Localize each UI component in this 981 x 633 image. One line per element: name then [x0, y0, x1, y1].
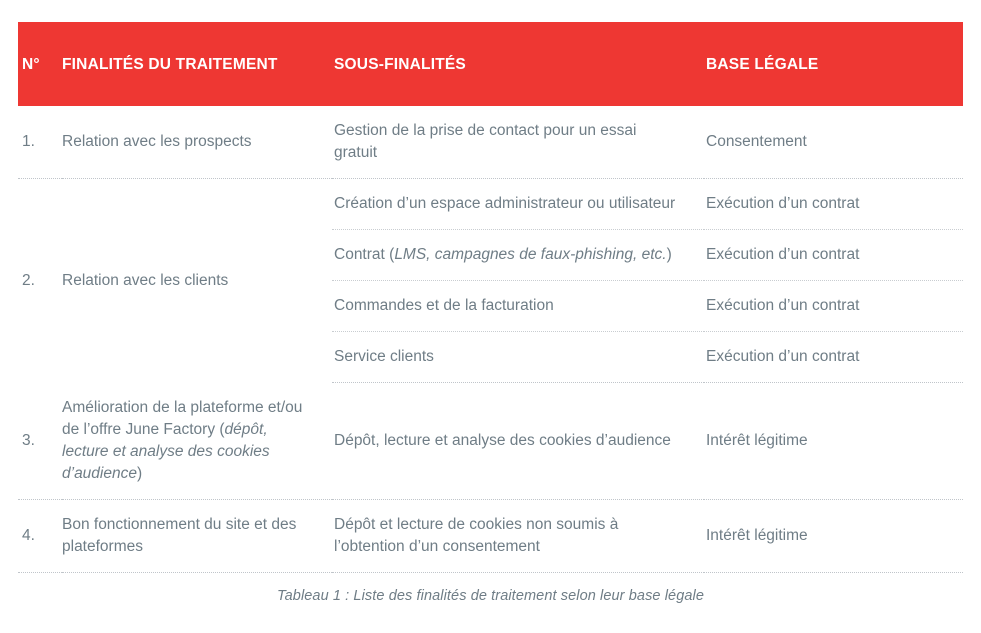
cell-number: 2. [18, 179, 62, 383]
table-body: 1. Relation avec les prospects Gestion d… [18, 106, 963, 572]
cell-sous-finalite-text: Service clients [334, 348, 434, 365]
cell-sous-finalite-text: Dépôt, lecture et analyse des cookies d’… [334, 432, 671, 449]
table-header-row: N° FINALITÉS DU TRAITEMENT SOUS-FINALITÉ… [18, 22, 963, 106]
cell-sous-finalite-text: Gestion de la prise de contact pour un e… [334, 122, 636, 161]
cell-sous-finalite: Dépôt et lecture de cookies non soumis à… [332, 499, 704, 572]
cell-sous-finalite: Service clients [332, 332, 704, 383]
cell-finalite: Relation avec les clients [62, 179, 332, 383]
cell-number: 4. [18, 499, 62, 572]
cell-base-legale: Intérêt légitime [704, 499, 963, 572]
column-header-base-legale-label: BASE LÉGALE [706, 54, 963, 74]
cell-sous-finalite-tail: ) [667, 246, 672, 263]
cell-sous-finalite: Contrat (LMS, campagnes de faux-phishing… [332, 230, 704, 281]
finalites-table: N° FINALITÉS DU TRAITEMENT SOUS-FINALITÉ… [18, 22, 963, 573]
cell-base-legale: Exécution d’un contrat [704, 230, 963, 281]
table-row: 1. Relation avec les prospects Gestion d… [18, 106, 963, 179]
column-header-sous-finalites: SOUS-FINALITÉS [332, 22, 704, 106]
cell-base-legale: Exécution d’un contrat [704, 332, 963, 383]
cell-finalite-text: Relation avec les prospects [62, 133, 252, 150]
cell-finalite: Amélioration de la plateforme et/ou de l… [62, 383, 332, 500]
page-root: N° FINALITÉS DU TRAITEMENT SOUS-FINALITÉ… [0, 0, 981, 633]
cell-sous-finalite: Gestion de la prise de contact pour un e… [332, 106, 704, 179]
column-header-base-legale: BASE LÉGALE [704, 22, 963, 106]
cell-sous-finalite-text: Contrat ( [334, 246, 394, 263]
column-header-sous-finalites-label: SOUS-FINALITÉS [334, 54, 704, 74]
cell-finalite-tail: ) [137, 465, 142, 482]
table-caption: Tableau 1 : Liste des finalités de trait… [0, 588, 981, 604]
cell-sous-finalite: Dépôt, lecture et analyse des cookies d’… [332, 383, 704, 500]
table-row: 2. Relation avec les clients Création d’… [18, 179, 963, 230]
cell-sous-finalite: Commandes et de la facturation [332, 281, 704, 332]
table-header: N° FINALITÉS DU TRAITEMENT SOUS-FINALITÉ… [18, 22, 963, 106]
cell-base-legale: Intérêt légitime [704, 383, 963, 500]
cell-finalite-text: Relation avec les clients [62, 272, 228, 289]
cell-sous-finalite-text: Création d’un espace administrateur ou u… [334, 195, 675, 212]
column-header-number-label: N° [22, 54, 62, 74]
cell-number: 1. [18, 106, 62, 179]
cell-number: 3. [18, 383, 62, 500]
cell-base-legale: Consentement [704, 106, 963, 179]
cell-sous-finalite-text: Dépôt et lecture de cookies non soumis à… [334, 516, 618, 555]
column-header-finalites-label: FINALITÉS DU TRAITEMENT [62, 54, 332, 74]
cell-sous-finalite-italic: LMS, campagnes de faux-phishing, etc. [394, 246, 666, 263]
cell-finalite-text: Bon fonctionnement du site et des platef… [62, 516, 296, 555]
cell-sous-finalite-text: Commandes et de la facturation [334, 297, 554, 314]
cell-base-legale: Exécution d’un contrat [704, 281, 963, 332]
table-row: 4. Bon fonctionnement du site et des pla… [18, 499, 963, 572]
cell-base-legale: Exécution d’un contrat [704, 179, 963, 230]
column-header-number: N° [18, 22, 62, 106]
cell-finalite: Relation avec les prospects [62, 106, 332, 179]
finalites-table-container: N° FINALITÉS DU TRAITEMENT SOUS-FINALITÉ… [18, 22, 963, 573]
table-row: 3. Amélioration de la plateforme et/ou d… [18, 383, 963, 500]
cell-sous-finalite: Création d’un espace administrateur ou u… [332, 179, 704, 230]
cell-finalite: Bon fonctionnement du site et des platef… [62, 499, 332, 572]
column-header-finalites: FINALITÉS DU TRAITEMENT [62, 22, 332, 106]
